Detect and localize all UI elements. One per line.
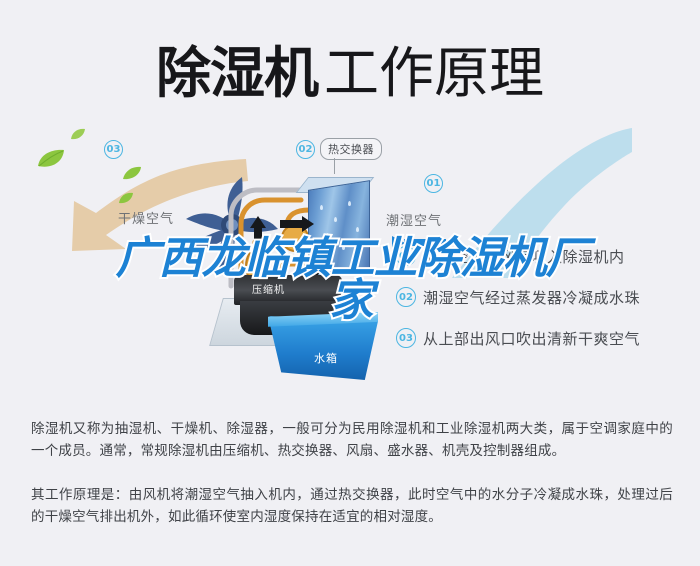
- water-tank: 水箱: [268, 316, 388, 400]
- leaf-icon: [70, 128, 86, 146]
- legend-text-02: 潮湿空气经过蒸发器冷凝成水珠: [423, 287, 640, 308]
- leaf-icon: [36, 148, 66, 175]
- legend-item-02: 02 潮湿空气经过蒸发器冷凝成水珠: [396, 286, 686, 308]
- page-title: 除湿机工作原理: [0, 28, 700, 108]
- poster-canvas: 除湿机工作原理: [0, 0, 700, 566]
- title-bold-part: 除湿机: [156, 41, 318, 105]
- callout-tail: [334, 158, 335, 174]
- water-tank-label: 水箱: [314, 350, 338, 366]
- legend-list: 01 潮湿空气由风扇吸入除湿机内 02 潮湿空气经过蒸发器冷凝成水珠 03 从上…: [396, 245, 686, 368]
- legend-badge-03: 03: [396, 328, 416, 348]
- legend-text-01: 潮湿空气由风扇吸入除湿机内: [423, 246, 625, 267]
- legend-item-03: 03 从上部出风口吹出清新干爽空气: [396, 327, 686, 349]
- badge-02-heat-exchanger: 02: [296, 140, 315, 159]
- legend-item-01: 01 潮湿空气由风扇吸入除湿机内: [396, 245, 686, 267]
- badge-01-moist-air: 01: [424, 174, 443, 193]
- paragraph-1: 除湿机又称为抽湿机、干燥机、除湿器，一般可分为民用除湿机和工业除湿机两大类，属于…: [31, 418, 673, 462]
- badge-03-dry-air: 03: [104, 140, 123, 159]
- paragraph-2: 其工作原理是：由风机将潮湿空气抽入机内，通过热交换器，此时空气中的水分子冷凝成水…: [31, 484, 673, 528]
- body-copy: 除湿机又称为抽湿机、干燥机、除湿器，一般可分为民用除湿机和工业除湿机两大类，属于…: [31, 418, 673, 528]
- title-light-part: 工作原理: [324, 41, 544, 105]
- compressor-label: 压缩机: [252, 281, 285, 296]
- legend-text-03: 从上部出风口吹出清新干爽空气: [423, 328, 640, 349]
- leaf-icon: [122, 166, 142, 186]
- heat-exchanger-callout: 热交换器: [320, 138, 382, 160]
- dry-air-label: 干燥空气: [118, 208, 174, 227]
- legend-badge-02: 02: [396, 287, 416, 307]
- moist-air-label: 潮湿空气: [386, 210, 442, 229]
- legend-badge-01: 01: [396, 246, 416, 266]
